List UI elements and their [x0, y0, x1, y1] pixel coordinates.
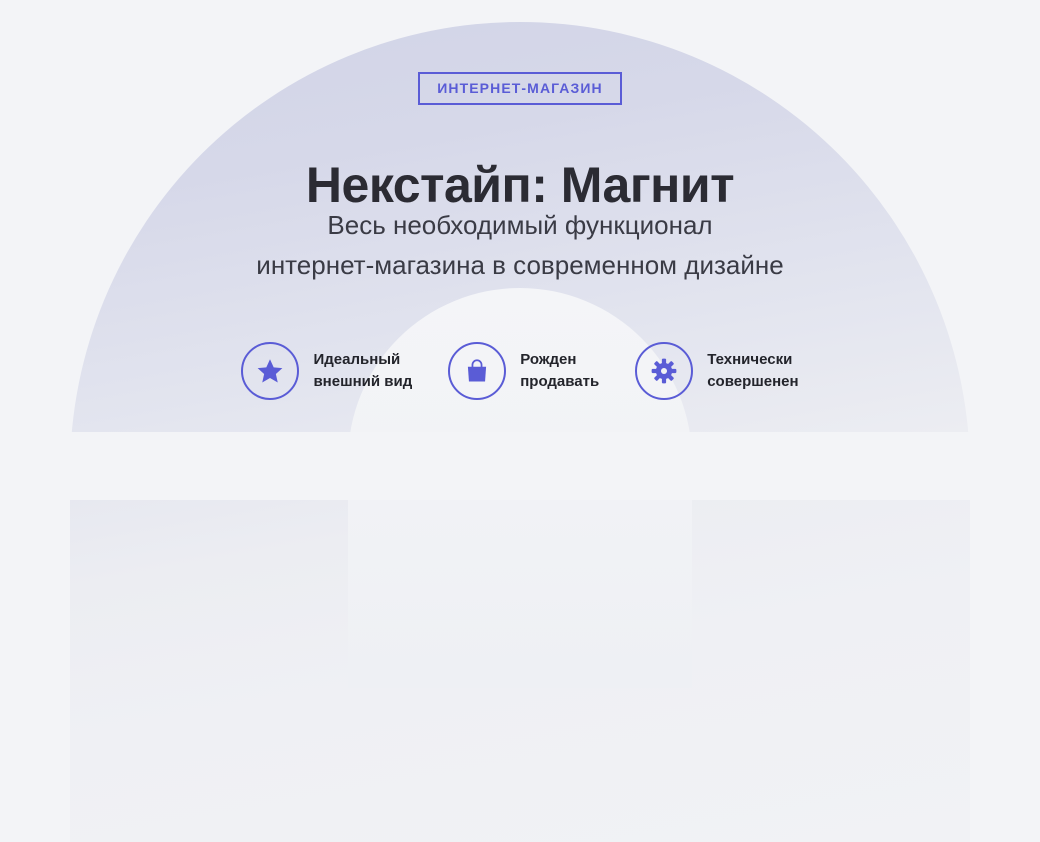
banner-content: ИНТЕРНЕТ-МАГАЗИН Некстайп: Магнит Весь н… — [0, 0, 1040, 500]
feature-label-selling: Рожден продавать — [520, 349, 599, 393]
feature-label-line-1: Технически — [707, 349, 798, 371]
shopping-bag-icon — [448, 342, 506, 400]
feature-item-appearance: Идеальный внешний вид — [241, 342, 412, 400]
feature-label-line-1: Рожден — [520, 349, 599, 371]
feature-item-selling: Рожден продавать — [448, 342, 599, 400]
feature-label-technical: Технически совершенен — [707, 349, 798, 393]
category-badge: ИНТЕРНЕТ-МАГАЗИН — [418, 72, 622, 105]
promo-banner: ИНТЕРНЕТ-МАГАЗИН Некстайп: Магнит Весь н… — [0, 0, 1040, 500]
feature-label-line-1: Идеальный — [313, 349, 412, 371]
eyebrow-badge-row: ИНТЕРНЕТ-МАГАЗИН — [0, 72, 1040, 105]
star-icon — [241, 342, 299, 400]
subtitle-line-1: Весь необходимый функционал — [0, 205, 1040, 245]
feature-label-line-2: продавать — [520, 371, 599, 393]
feature-item-technical: Технически совершенен — [635, 342, 798, 400]
feature-label-line-2: совершенен — [707, 371, 798, 393]
feature-label-appearance: Идеальный внешний вид — [313, 349, 412, 393]
gear-icon — [635, 342, 693, 400]
subtitle-line-2: интернет-магазина в современном дизайне — [0, 245, 1040, 285]
feature-list: Идеальный внешний вид Рожден продавать — [0, 342, 1040, 400]
feature-label-line-2: внешний вид — [313, 371, 412, 393]
subtitle: Весь необходимый функционал интернет-маг… — [0, 205, 1040, 286]
